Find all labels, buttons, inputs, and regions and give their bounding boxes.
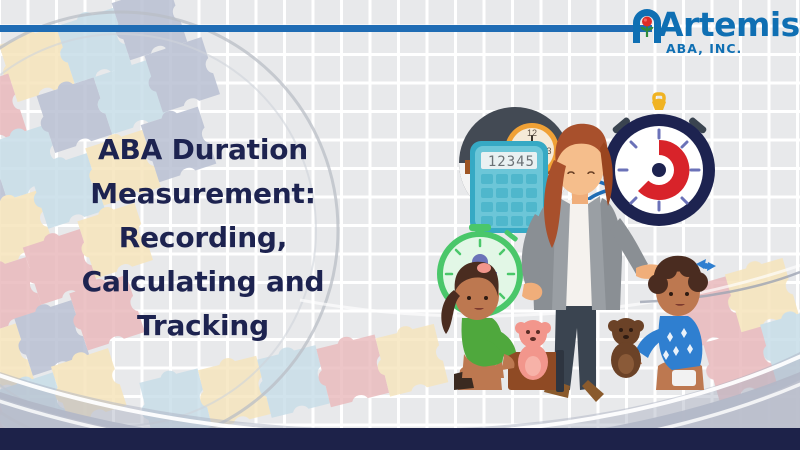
title-line-2: Measurement: — [48, 172, 358, 216]
pink-teddy-bear — [515, 320, 551, 380]
artemis-logo[interactable]: Artemis ABA, INC. — [622, 6, 782, 60]
page-title: ABA Duration Measurement: Recording, Cal… — [48, 128, 358, 348]
top-accent-rule — [0, 25, 652, 32]
calculator-display-value: 12345 — [488, 154, 535, 170]
title-line-5: Tracking — [48, 304, 358, 348]
title-line-3: Recording, — [48, 216, 358, 260]
slide-canvas: Artemis ABA, INC. ABA Duration Measureme… — [0, 0, 800, 450]
logo-wordmark: Artemis — [658, 8, 800, 41]
bottom-bar — [0, 428, 800, 450]
child-right-figure — [608, 256, 716, 390]
stopwatch-red-icon — [603, 94, 715, 226]
title-line-4: Calculating and — [48, 260, 358, 304]
illustration: 12 3 6 9 12345 — [420, 78, 800, 428]
title-line-1: ABA Duration — [48, 128, 358, 172]
logo-subtext: ABA, INC. — [666, 42, 742, 55]
